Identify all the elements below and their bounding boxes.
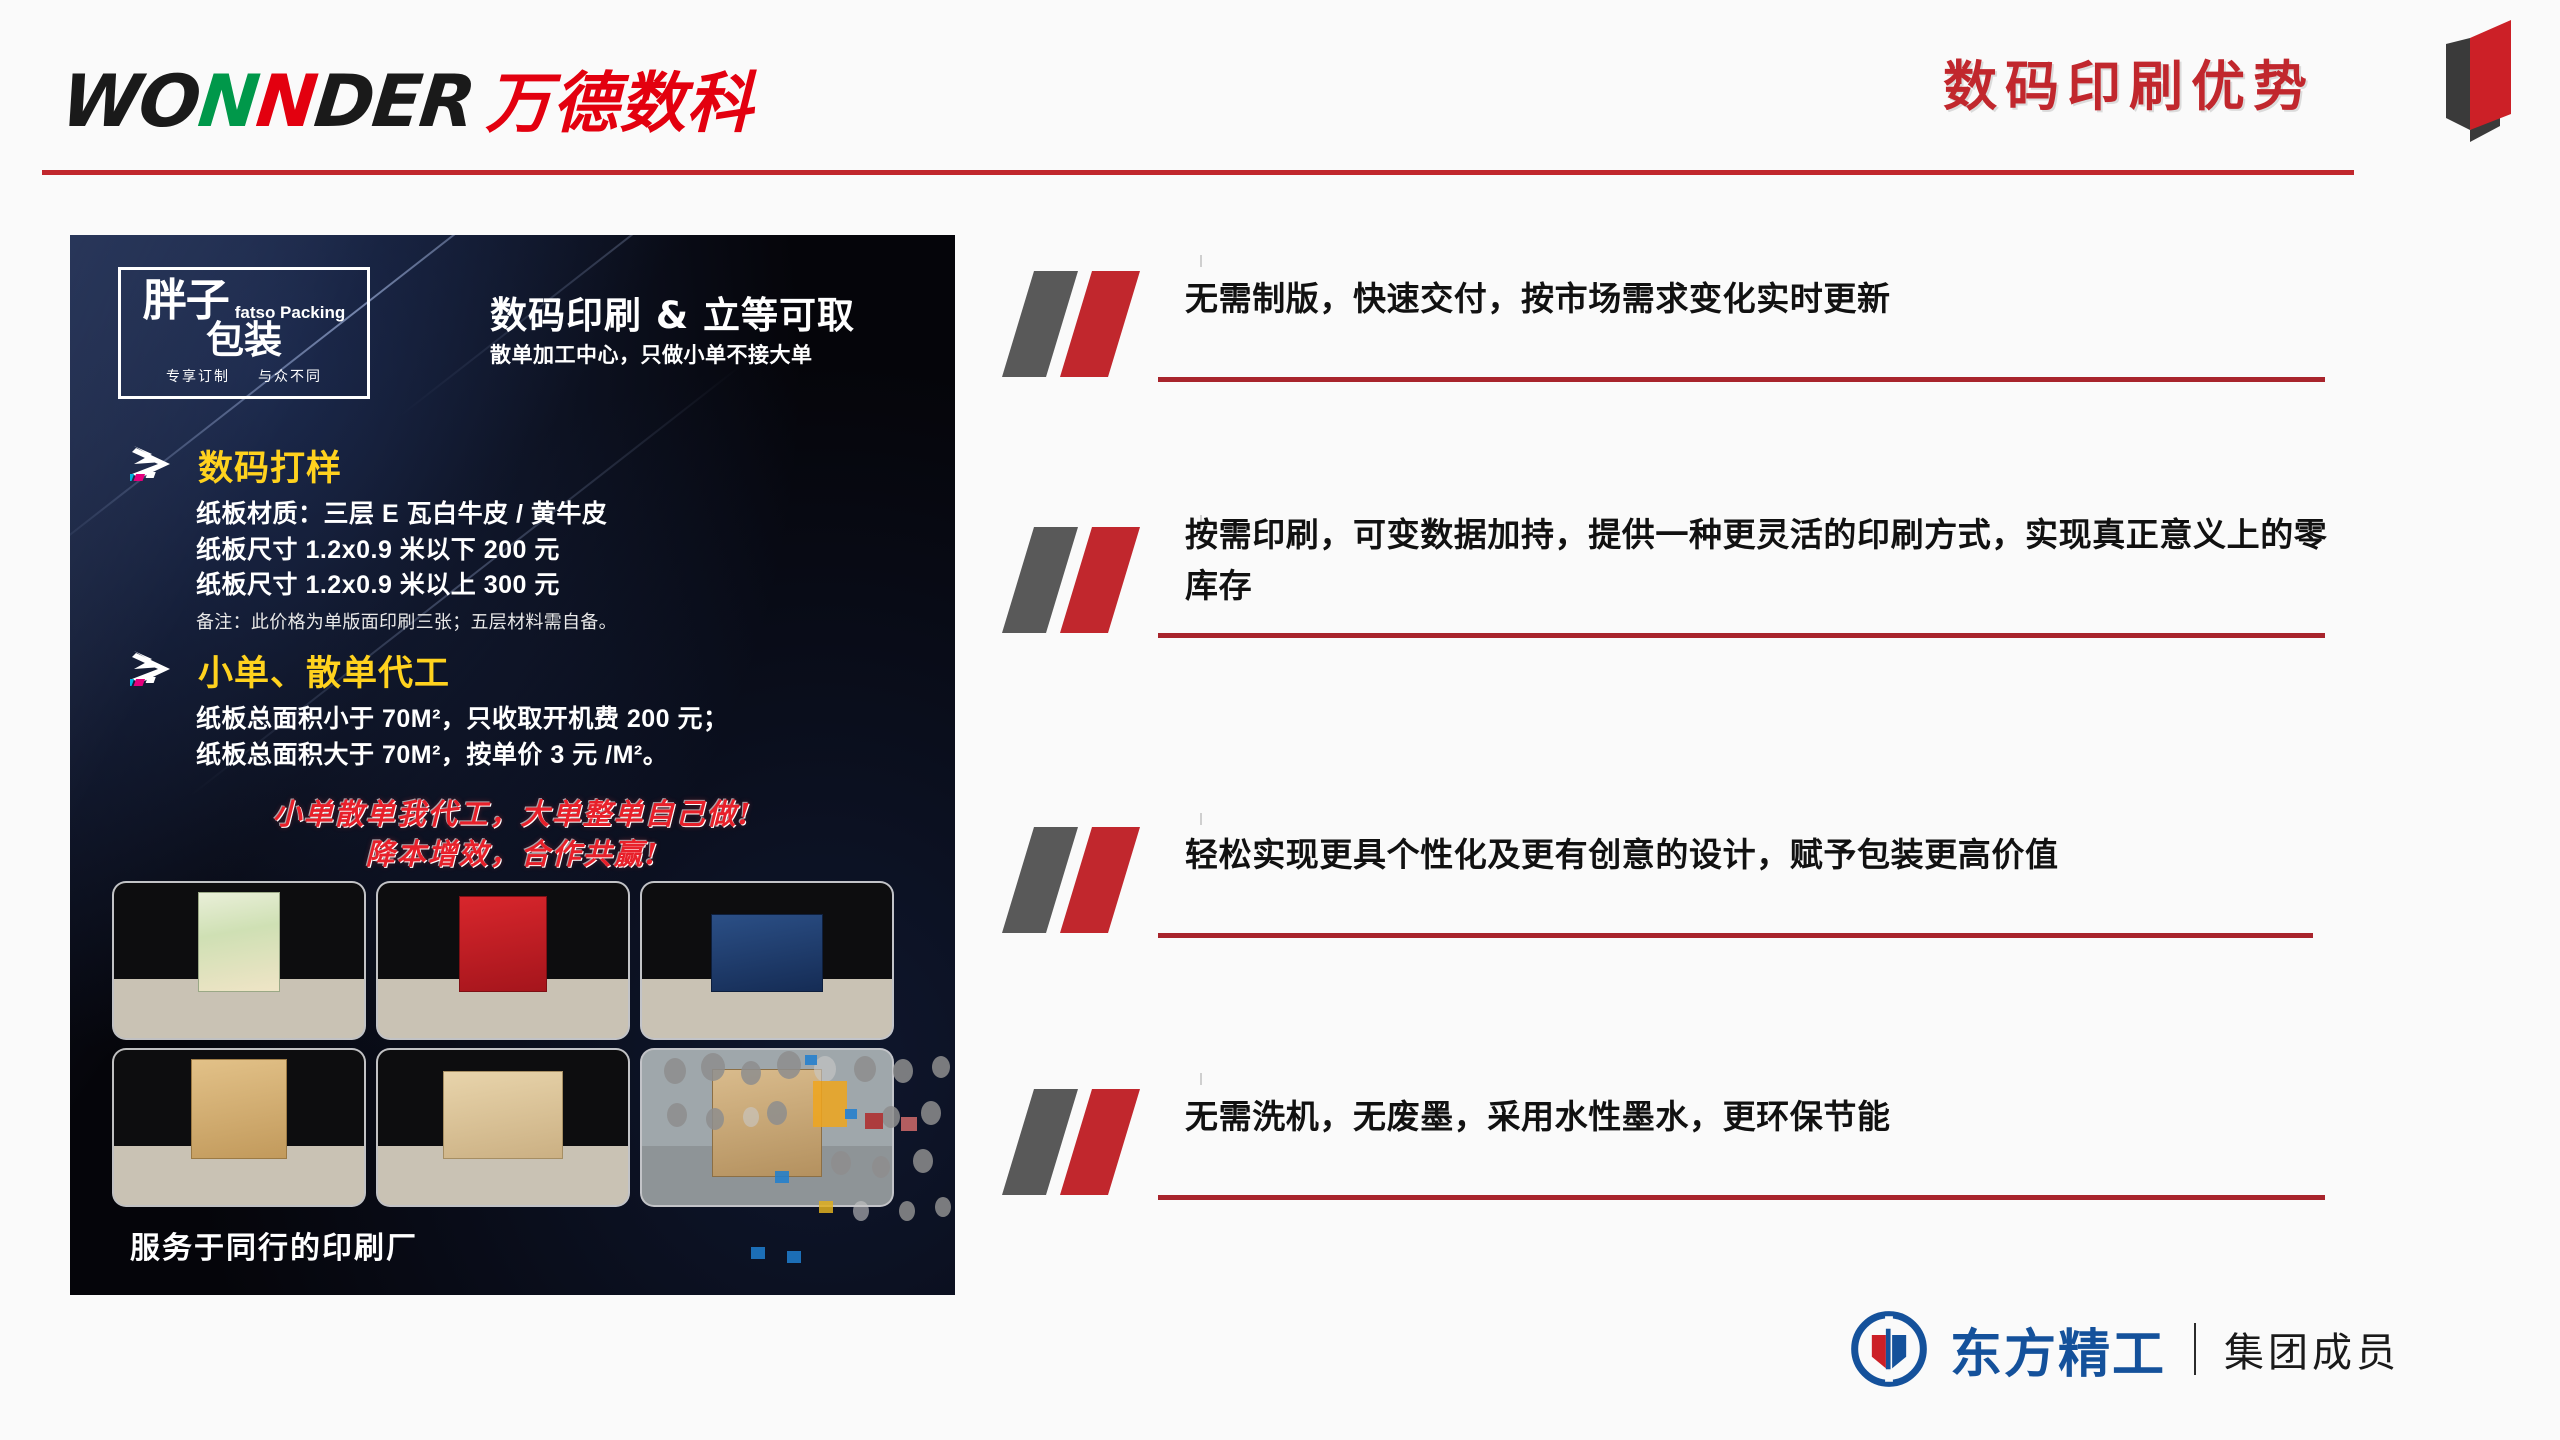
tick-marker [1200,1073,1202,1085]
wonder-wordmark-part-der: DER [311,65,477,137]
advantage-text: 按需印刷，可变数据加持，提供一种更灵活的印刷方式，实现真正意义上的零库存 [1185,509,2340,611]
product-photo-label: 牛肉馅饼彩箱 [642,883,892,1038]
fatso-logo-tagline-right: 与众不同 [258,366,322,386]
advantage-underline [1158,1195,2325,1200]
wonder-wordmark-part-wo: WO [58,65,202,137]
double-parallelogram-marker-icon [1000,1083,1180,1201]
fatso-logo-tagline-left: 专享订制 [166,366,230,386]
tick-marker [1200,255,1202,267]
product-photo: 牛皮纸手提礼盒 [114,1050,364,1205]
wonder-wordmark-part-n-green: N [195,65,261,137]
group-member-footer-logo: 东方精工 集团成员 [1850,1310,2400,1388]
chevron-arrow-icon [130,649,184,693]
section-line: 纸板总面积小于 70M²，只收取开机费 200 元； [196,702,729,738]
halftone-dot-decoration-icon [655,1051,955,1281]
header-divider [42,170,2354,175]
section-line: 纸板总面积大于 70M²，按单价 3 元 /M²。 [196,738,729,774]
poster-section-small-order-oem: 小单、散单代工 纸板总面积小于 70M²，只收取开机费 200 元； 纸板总面积… [130,645,729,773]
advantage-underline [1158,633,2325,638]
section-line: 纸板尺寸 1.2x0.9 米以上 300 元 [196,568,617,604]
product-photo-label: 红色礼品包装盒 [378,883,628,1038]
section-line: 纸板尺寸 1.2x0.9 米以下 200 元 [196,533,617,569]
product-photo: 经典礼盒套装 [378,1050,628,1205]
footer-company-name: 东方精工 [1950,1312,2166,1387]
section-title: 小单、散单代工 [198,645,450,696]
product-photo: 牛肉馅饼彩箱 [642,883,892,1038]
slide-header: WONNDER 万德数科 数码印刷优势 [0,0,2560,170]
advantage-text: 无需洗机，无废墨，采用水性墨水，更环保节能 [1185,1091,2340,1142]
advantage-text: 轻松实现更具个性化及更有创意的设计，赋予包装更高价值 [1185,829,2340,880]
product-photo: 红色礼品包装盒 [378,883,628,1038]
fatso-logo-main-text: 胖子 [143,280,229,322]
product-photo-label: 经典礼盒套装 [378,1050,628,1205]
chevron-arrow-icon [130,444,184,488]
folded-page-decoration-icon [2408,8,2518,148]
brand-chinese-name: 万德数科 [486,50,754,146]
double-parallelogram-marker-icon [1000,265,1180,383]
fatso-packing-logo: 胖子 fatso Packing 包装 专享订制 与众不同 [118,267,370,399]
advantage-underline [1158,933,2313,938]
poster-subheadline: 散单加工中心，只做小单不接大单 [490,339,920,369]
poster-slogan-line-1: 小单散单我代工，大单整单自己做! [70,795,955,834]
fatso-logo-second-text: 包装 [206,321,282,359]
page-title: 数码印刷优势 [1943,42,2315,121]
dongfang-jingong-logo-icon [1850,1310,1928,1388]
product-photo-label: 牛皮纸手提礼盒 [114,1050,364,1205]
footer-divider [2194,1323,2196,1375]
slide-root: WONNDER 万德数科 数码印刷优势 胖子 fatso Packing 包装 … [0,0,2560,1440]
wonder-wordmark-part-n-red: N [253,65,319,137]
tick-marker [1200,813,1202,825]
section-note: 备注：此价格为单版面印刷三张；五层材料需自备。 [196,608,617,634]
product-photo-label: 天然蜂蜜礼盒 [114,883,364,1038]
poster-headline: 数码印刷 & 立等可取 [490,285,920,339]
poster-slogan-line-2: 降本增效，合作共赢! [70,835,955,874]
poster-section-digital-proofing: 数码打样 纸板材质：三层 E 瓦白牛皮 / 黄牛皮 纸板尺寸 1.2x0.9 米… [130,440,617,634]
promo-poster: 胖子 fatso Packing 包装 专享订制 与众不同 数码印刷 & 立等可… [70,235,955,1295]
double-parallelogram-marker-icon [1000,821,1180,939]
double-parallelogram-marker-icon [1000,521,1180,639]
wonder-wordmark: WONNDER [62,65,474,137]
product-photo: 天然蜂蜜礼盒 [114,883,364,1038]
wonder-brand-logo: WONNDER 万德数科 [62,50,754,146]
advantage-underline [1158,377,2325,382]
advantage-text: 无需制版，快速交付，按市场需求变化实时更新 [1185,273,2340,324]
section-title: 数码打样 [198,440,342,491]
poster-footer-text: 服务于同行的印刷厂 [130,1223,418,1267]
section-line: 纸板材质：三层 E 瓦白牛皮 / 黄牛皮 [196,497,617,533]
footer-member-label: 集团成员 [2224,1320,2400,1378]
